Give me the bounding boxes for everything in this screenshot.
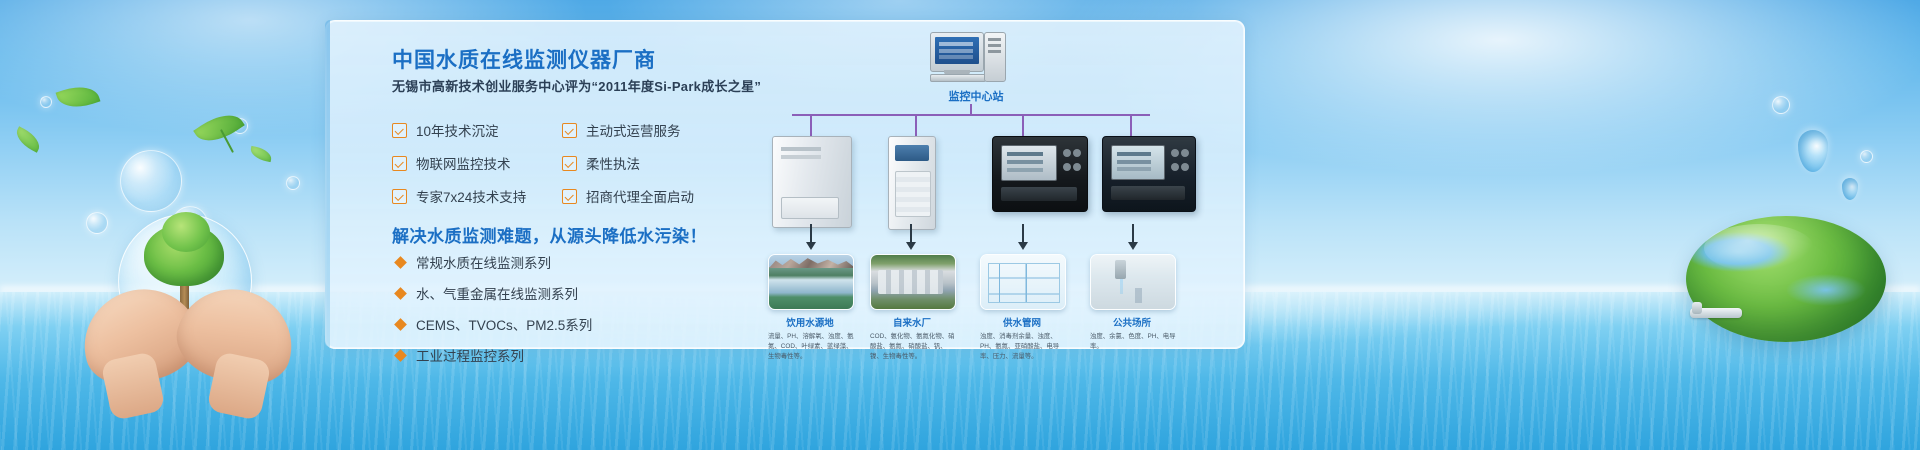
bus-drop-connector bbox=[1130, 114, 1132, 136]
diamond-bullet-icon bbox=[394, 349, 407, 362]
feature-item[interactable]: 物联网监控技术 bbox=[392, 153, 562, 173]
feature-label: 主动式运营服务 bbox=[586, 120, 681, 140]
checkbox-checked-icon bbox=[562, 123, 577, 138]
scenario-card[interactable]: 公共场所 浊度、余氯、色度、PH、电导率。 bbox=[1090, 254, 1174, 352]
feature-label: 招商代理全面启动 bbox=[586, 186, 694, 206]
down-arrow-icon bbox=[1132, 224, 1134, 244]
monitor-screen bbox=[935, 37, 979, 64]
bus-drop-connector bbox=[915, 114, 917, 136]
page-title: 中国水质在线监测仪器厂商 bbox=[392, 44, 656, 74]
wide-controller-device bbox=[992, 136, 1088, 212]
list-item-label: 常规水质在线监测系列 bbox=[416, 252, 551, 272]
public-tap-photo bbox=[1090, 254, 1176, 310]
banner-stage: 中国水质在线监测仪器厂商 无锡市高新技术创业服务中心评为“2011年度Si-Pa… bbox=[0, 0, 1920, 450]
diamond-bullet-icon bbox=[394, 287, 407, 300]
product-line-list: 常规水质在线监测系列 水、气重金属在线监测系列 CEMS、TVOCs、PM2.5… bbox=[396, 252, 592, 376]
bus-connector bbox=[792, 114, 1150, 116]
feature-item[interactable]: 柔性执法 bbox=[562, 153, 640, 173]
rack-analyzer-device bbox=[888, 136, 936, 230]
water-plant-photo bbox=[870, 254, 956, 310]
diamond-bullet-icon bbox=[394, 256, 407, 269]
section-headline: 解决水质监测难题，从源头降低水污染！ bbox=[392, 222, 707, 247]
river-source-photo bbox=[768, 254, 854, 310]
bubble-icon bbox=[1860, 150, 1873, 163]
faucet-handle-icon bbox=[1692, 302, 1702, 314]
tree-canopy-top-icon bbox=[162, 212, 210, 252]
device-screen bbox=[1111, 145, 1165, 180]
feature-row: 专家7x24技术支持 招商代理全面启动 bbox=[392, 186, 712, 206]
down-arrow-icon bbox=[1022, 224, 1024, 244]
device-buttons bbox=[1063, 149, 1071, 157]
scenario-card[interactable]: 自来水厂 COD、氨化物、氨氮化物、硝酸盐、氨氮、硝酸盐、钒、镍、生物毒性等。 bbox=[870, 254, 954, 362]
device-base-bar bbox=[1111, 186, 1185, 200]
checkbox-checked-icon bbox=[392, 123, 407, 138]
scenario-title: 公共场所 bbox=[1090, 315, 1174, 329]
feature-item[interactable]: 10年技术沉淀 bbox=[392, 120, 562, 140]
bus-drop-connector bbox=[810, 114, 812, 136]
page-subtitle: 无锡市高新技术创业服务中心评为“2011年度Si-Park成长之星” bbox=[392, 76, 761, 95]
list-item[interactable]: 常规水质在线监测系列 bbox=[396, 252, 592, 272]
down-arrow-icon bbox=[810, 224, 812, 244]
checkbox-checked-icon bbox=[562, 189, 577, 204]
feature-label: 10年技术沉淀 bbox=[416, 120, 499, 140]
panel-controller-device bbox=[1102, 136, 1196, 212]
feature-label: 柔性执法 bbox=[586, 153, 640, 173]
bubble-icon bbox=[1772, 96, 1790, 114]
scenario-title: 自来水厂 bbox=[870, 315, 954, 329]
panel-left-accent bbox=[325, 20, 330, 347]
diamond-bullet-icon bbox=[394, 318, 407, 331]
feature-checklist: 10年技术沉淀 主动式运营服务 物联网监控技术 柔性执法 专家7x24技术支持 bbox=[392, 120, 712, 219]
device-screen bbox=[1001, 145, 1057, 181]
list-item-label: 工业过程监控系列 bbox=[416, 345, 524, 365]
feature-row: 10年技术沉淀 主动式运营服务 bbox=[392, 120, 712, 140]
hands-holding-tree-illustration bbox=[60, 198, 310, 398]
list-item[interactable]: 工业过程监控系列 bbox=[396, 345, 592, 365]
checkbox-checked-icon bbox=[392, 189, 407, 204]
pc-tower-icon bbox=[984, 32, 1006, 82]
feature-label: 专家7x24技术支持 bbox=[416, 186, 526, 206]
scenario-desc: 浊度、余氯、色度、PH、电导率。 bbox=[1090, 332, 1176, 352]
list-item-label: CEMS、TVOCs、PM2.5系列 bbox=[416, 314, 592, 334]
feature-item[interactable]: 主动式运营服务 bbox=[562, 120, 681, 140]
checkbox-checked-icon bbox=[392, 156, 407, 171]
scenario-desc: COD、氨化物、氨氮化物、硝酸盐、氨氮、硝酸盐、钒、镍、生物毒性等。 bbox=[870, 332, 956, 362]
pipe-network-diagram bbox=[980, 254, 1066, 310]
green-earth-illustration bbox=[1686, 216, 1886, 352]
feature-label: 物联网监控技术 bbox=[416, 153, 511, 173]
system-topology-diagram: 监控中心站 饮用水源地 流量、PH、溶解氧、浊度、氨氮、COD、叶绿素、蓝绿藻、… bbox=[760, 28, 1220, 338]
keyboard-icon bbox=[930, 74, 986, 82]
bus-drop-connector bbox=[1022, 114, 1024, 136]
checkbox-checked-icon bbox=[562, 156, 577, 171]
scenario-title: 供水管网 bbox=[980, 315, 1064, 329]
scenario-card[interactable]: 供水管网 浊度、消毒剂余量、浊度、PH、氨氮、亚硝酸盐、电导率、压力、流量等。 bbox=[980, 254, 1064, 362]
list-item[interactable]: 水、气重金属在线监测系列 bbox=[396, 283, 592, 303]
feature-item[interactable]: 招商代理全面启动 bbox=[562, 186, 694, 206]
bubble-icon bbox=[286, 176, 300, 190]
desktop-computer-icon bbox=[930, 32, 1004, 80]
bubble-icon bbox=[40, 96, 52, 108]
feature-row: 物联网监控技术 柔性执法 bbox=[392, 153, 712, 173]
device-buttons bbox=[1171, 149, 1179, 157]
scenario-desc: 流量、PH、溶解氧、浊度、氨氮、COD、叶绿素、蓝绿藻、生物毒性等。 bbox=[768, 332, 854, 362]
feature-item[interactable]: 专家7x24技术支持 bbox=[392, 186, 562, 206]
monitor-icon bbox=[930, 32, 984, 72]
earth-highlight bbox=[1704, 224, 1814, 272]
scenario-card[interactable]: 饮用水源地 流量、PH、溶解氧、浊度、氨氮、COD、叶绿素、蓝绿藻、生物毒性等。 bbox=[768, 254, 852, 362]
list-item-label: 水、气重金属在线监测系列 bbox=[416, 283, 578, 303]
scenario-desc: 浊度、消毒剂余量、浊度、PH、氨氮、亚硝酸盐、电导率、压力、流量等。 bbox=[980, 332, 1066, 362]
cabinet-analyzer-device bbox=[772, 136, 852, 228]
down-arrow-icon bbox=[910, 224, 912, 244]
list-item[interactable]: CEMS、TVOCs、PM2.5系列 bbox=[396, 314, 592, 334]
device-base-bar bbox=[1001, 187, 1077, 201]
monitoring-center-label: 监控中心站 bbox=[926, 88, 1026, 104]
scenario-title: 饮用水源地 bbox=[768, 315, 852, 329]
